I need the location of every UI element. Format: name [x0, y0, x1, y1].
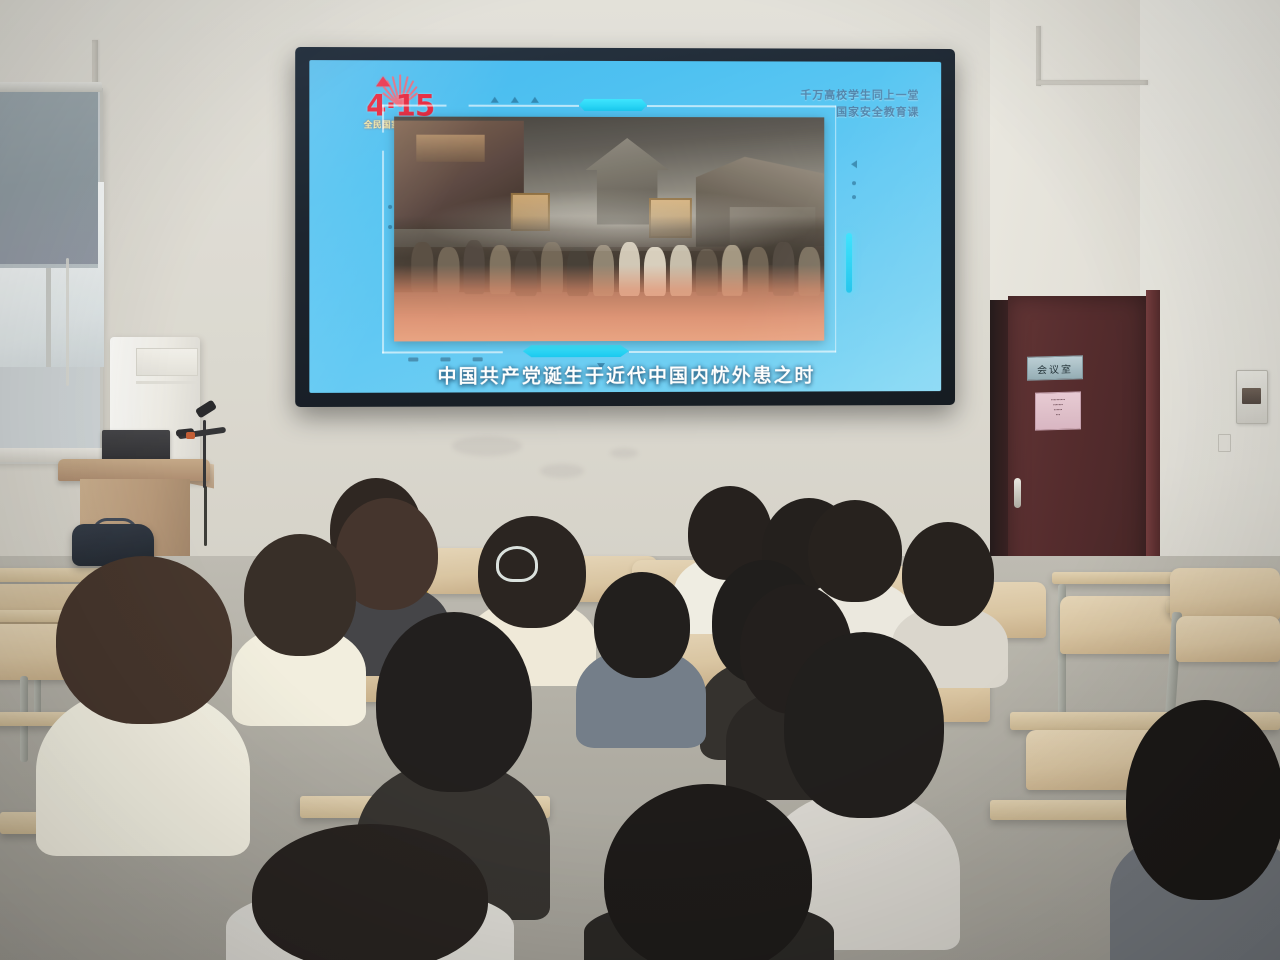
podium-top — [58, 459, 210, 481]
wall-mark — [610, 448, 638, 458]
wall-mark — [540, 464, 584, 478]
display-screen: 4·15 全民国家安全教育 千万高校学生同上一堂 国家安全教育课 — [309, 60, 941, 393]
slide-photo — [394, 117, 824, 342]
slide-headline-line1: 千万高校学生同上一堂 — [761, 87, 920, 104]
light-switch[interactable] — [1218, 434, 1231, 452]
microphone-accent — [186, 432, 195, 439]
hair-clip — [496, 546, 538, 582]
door-sign: 会议室 — [1027, 355, 1083, 380]
classroom-scene: 会议室 •••••••••• ••••••• •••••• ••• — [0, 0, 1280, 960]
logo-star-icon — [376, 76, 390, 86]
microphone-cable — [204, 486, 207, 546]
notice-line: ••• — [1039, 412, 1077, 418]
window-blind[interactable] — [0, 86, 98, 268]
door-handle[interactable] — [1014, 478, 1021, 508]
slide-subtitle: 中国共产党诞生于近代中国内忧外患之时 — [309, 360, 941, 389]
door-notice: •••••••••• ••••••• •••••• ••• — [1035, 391, 1081, 430]
frame-accent-right — [846, 233, 852, 293]
wall-conduit — [1036, 80, 1148, 85]
window-blind-rail — [0, 82, 102, 92]
wall-panel-window — [1242, 388, 1261, 404]
seat — [1170, 568, 1280, 620]
seat — [1176, 616, 1280, 662]
wall-display[interactable]: 4·15 全民国家安全教育 千万高校学生同上一堂 国家安全教育课 — [295, 47, 955, 407]
blind-cord[interactable] — [66, 258, 69, 386]
frame-accent-bottom — [523, 345, 629, 357]
ac-panel-line — [136, 381, 196, 384]
ac-vent — [136, 348, 198, 376]
frame-accent-top — [579, 99, 647, 111]
seat — [1060, 596, 1182, 654]
podium-monitor — [102, 430, 170, 462]
wall-mark — [452, 436, 522, 456]
wall-conduit — [1036, 26, 1041, 86]
slide-photo-frame — [382, 104, 836, 353]
